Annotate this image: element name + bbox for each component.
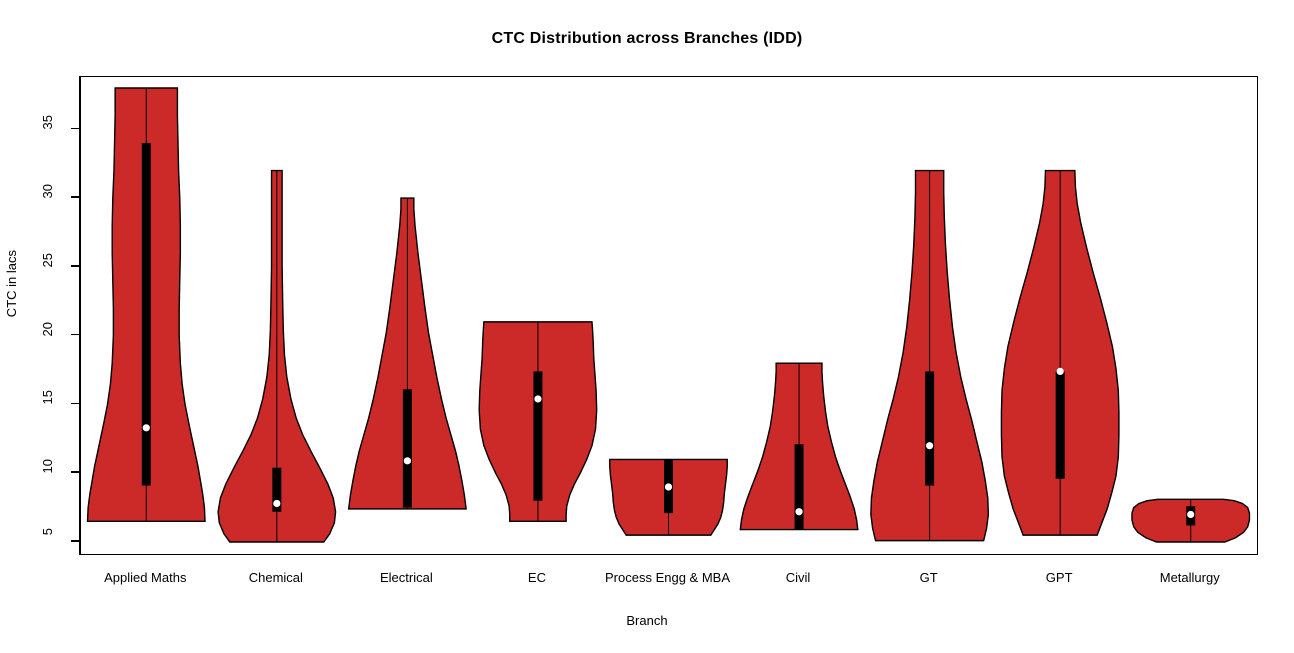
x-tick-label: GPT — [1046, 570, 1073, 585]
iqr-box — [795, 444, 804, 529]
y-axis: 5101520253035 — [0, 0, 80, 653]
median-marker — [665, 483, 672, 490]
iqr-box — [403, 389, 412, 507]
x-tick-label: GT — [920, 570, 938, 585]
violin-gt — [871, 171, 989, 541]
median-marker — [404, 457, 411, 464]
violin-plot-figure: CTC Distribution across Branches (IDD) C… — [0, 0, 1294, 653]
median-marker — [1057, 368, 1064, 375]
violin-process-engg-mba — [610, 459, 728, 535]
y-tick-label: 35 — [41, 115, 54, 129]
y-tick-label: 25 — [41, 253, 54, 267]
x-tick-label: Process Engg & MBA — [605, 570, 730, 585]
violin-civil — [740, 363, 858, 529]
median-marker — [926, 442, 933, 449]
x-tick-label: Applied Maths — [104, 570, 186, 585]
violin-chemical — [218, 171, 336, 542]
violin-applied-maths — [88, 88, 206, 521]
x-tick-label: EC — [528, 570, 546, 585]
x-tick-label: Chemical — [249, 570, 303, 585]
median-marker — [795, 508, 802, 515]
iqr-box — [925, 371, 934, 485]
chart-title: CTC Distribution across Branches (IDD) — [0, 30, 1294, 48]
violin-gpt — [1001, 171, 1119, 536]
x-tick-label: Metallurgy — [1160, 570, 1220, 585]
median-marker — [273, 500, 280, 507]
iqr-box — [533, 371, 542, 500]
plot-area — [80, 76, 1258, 555]
violin-electrical — [349, 198, 467, 509]
y-tick-label: 10 — [41, 459, 54, 473]
violin-ec — [479, 322, 597, 521]
y-tick-label: 30 — [41, 184, 54, 198]
iqr-box — [1056, 371, 1065, 478]
violin-layer — [81, 77, 1256, 553]
y-tick-label: 20 — [41, 322, 54, 336]
violin-metallurgy — [1132, 499, 1250, 542]
x-axis-title: Branch — [0, 613, 1294, 628]
x-tick-label: Civil — [786, 570, 811, 585]
iqr-box — [142, 143, 151, 486]
median-marker — [143, 424, 150, 431]
median-marker — [534, 395, 541, 402]
median-marker — [1187, 511, 1194, 518]
y-tick-label: 15 — [41, 390, 54, 404]
x-tick-label: Electrical — [380, 570, 433, 585]
y-tick-label: 5 — [41, 528, 54, 535]
